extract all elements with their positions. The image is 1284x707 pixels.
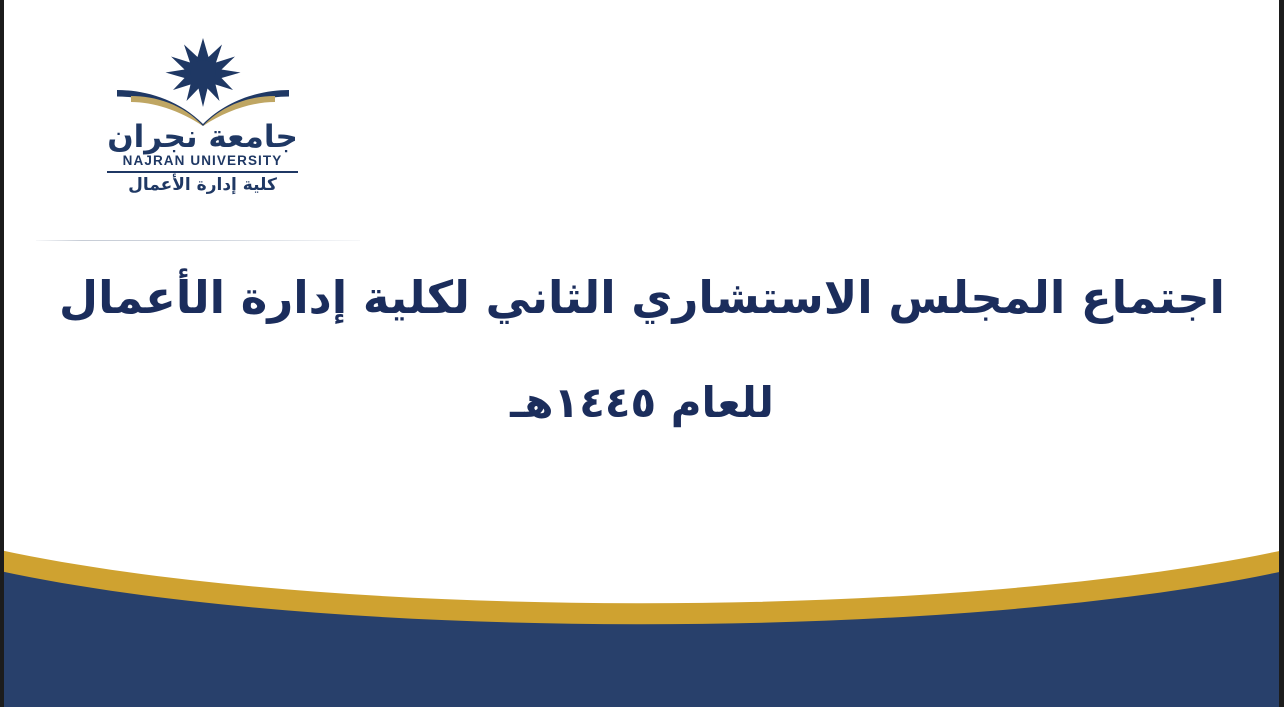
starburst-book-emblem-icon xyxy=(113,38,293,126)
logo-university-name-arabic: جامعة نجران xyxy=(95,122,310,153)
university-logo: جامعة نجران NAJRAN UNIVERSITY كلية إدارة… xyxy=(95,38,310,193)
logo-college-name-arabic: كلية إدارة الأعمال xyxy=(95,175,310,195)
slide-title-block: اجتماع المجلس الاستشاري الثاني لكلية إدا… xyxy=(0,268,1284,429)
bottom-curve-decoration xyxy=(0,497,1284,707)
right-edge-strip xyxy=(1279,0,1284,707)
header-divider-line xyxy=(36,240,360,241)
logo-divider-rule xyxy=(107,171,298,173)
slide-title-line-1: اجتماع المجلس الاستشاري الثاني لكلية إدا… xyxy=(0,268,1284,328)
slide-title-line-2: للعام ١٤٤٥هـ xyxy=(0,378,1284,428)
left-edge-strip xyxy=(0,0,4,707)
logo-university-name-english: NAJRAN UNIVERSITY xyxy=(95,154,310,168)
title-slide: جامعة نجران NAJRAN UNIVERSITY كلية إدارة… xyxy=(0,0,1284,707)
